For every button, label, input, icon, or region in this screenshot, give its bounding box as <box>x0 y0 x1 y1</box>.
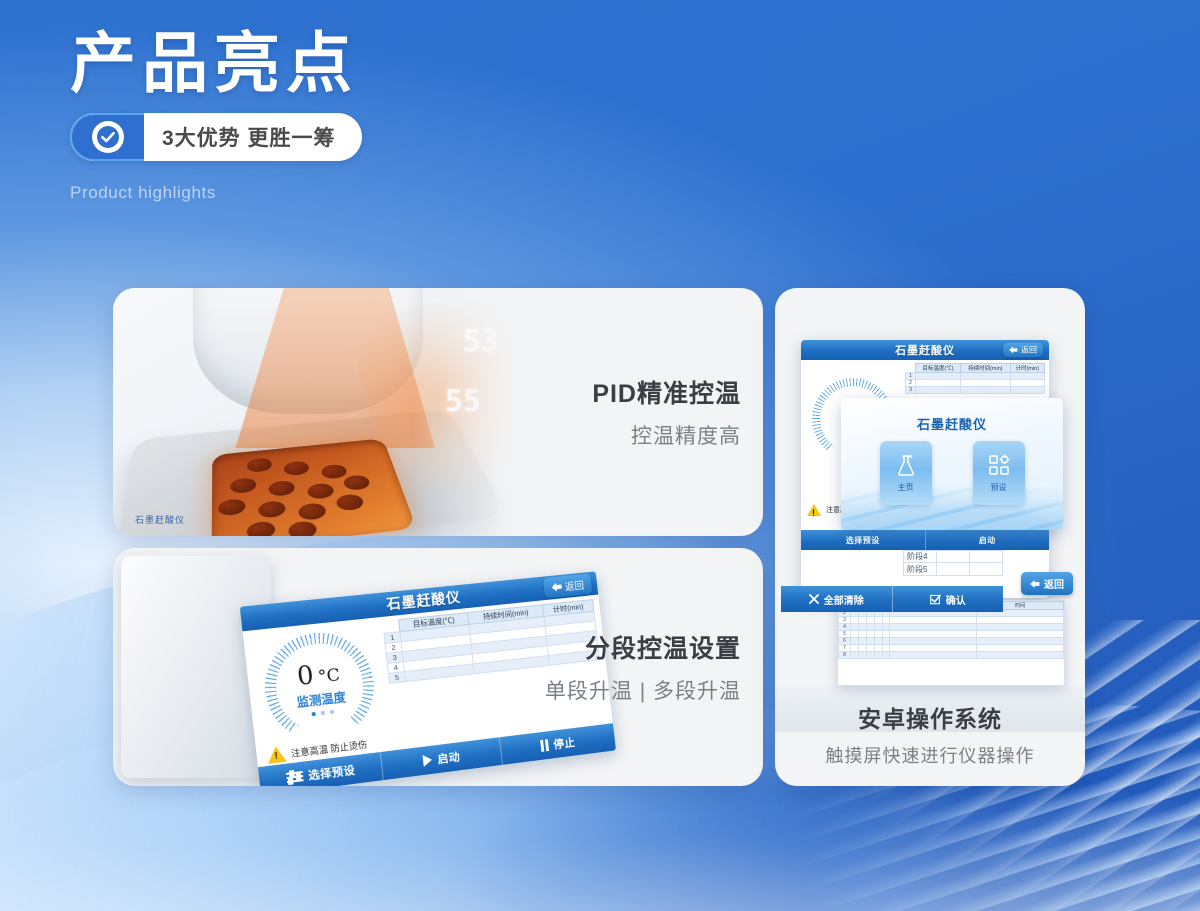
os-col-duration: 持续时间(min) <box>960 364 1010 373</box>
well <box>335 493 365 511</box>
cell[interactable] <box>858 617 866 624</box>
stage-row: 阶段5 <box>903 563 1003 576</box>
cell[interactable] <box>874 638 882 645</box>
stage-row-label: 阶段4 <box>904 551 936 562</box>
cell[interactable] <box>1010 373 1044 380</box>
cell[interactable] <box>851 645 859 652</box>
preset-button-label: 预设 <box>991 482 1007 493</box>
table-row: 8 <box>839 652 1064 659</box>
gauge-dot <box>311 711 316 716</box>
cell[interactable] <box>977 631 1064 638</box>
cell[interactable] <box>1010 380 1044 387</box>
cell[interactable] <box>890 624 977 631</box>
page-subtitle: Product highlights <box>70 183 670 203</box>
table-row: 2 <box>906 380 1045 387</box>
cell[interactable] <box>890 638 977 645</box>
sliders-icon <box>286 771 304 783</box>
card-android-os[interactable]: 石墨赶酸仪 返回 目标温度(℃) 持续时间(min) <box>775 288 1085 786</box>
cell[interactable] <box>874 652 882 659</box>
stop-label: 停止 <box>553 734 577 752</box>
cell[interactable] <box>874 645 882 652</box>
back-button-label: 返回 <box>564 577 585 593</box>
cell[interactable] <box>960 387 1010 394</box>
cell[interactable] <box>866 652 874 659</box>
confirm-button[interactable]: 确认 <box>893 586 1004 612</box>
preset-select-label: 选择预设 <box>307 761 356 783</box>
warning-triangle-icon <box>807 504 821 516</box>
stop-button[interactable]: 停止 <box>500 723 616 765</box>
card-android-title: 安卓操作系统 <box>775 700 1085 734</box>
well <box>258 500 287 519</box>
badge-label: 3大优势 更胜一筹 <box>144 122 362 152</box>
table-row: 6 <box>839 638 1064 645</box>
checkbox-icon <box>930 594 941 605</box>
card-segmented-temperature[interactable]: 石墨赶酸仪 返回 0 °C 监测温度 <box>113 548 763 786</box>
os-back-button[interactable]: 返回 <box>1003 343 1043 358</box>
table-row: 1 <box>906 373 1045 380</box>
row-index: 5 <box>388 672 405 684</box>
cell[interactable] <box>866 631 874 638</box>
page-header: 产品亮点 3大优势 更胜一筹 Product highlights <box>70 28 670 203</box>
card-pid-text: PID精准控温 控温精度高 <box>592 374 741 450</box>
cell[interactable] <box>960 373 1010 380</box>
row-index: 5 <box>839 631 851 638</box>
cell[interactable] <box>916 373 961 380</box>
os-program-table[interactable]: 目标温度(℃) 持续时间(min) 计时(min) 1 2 3 <box>905 363 1045 394</box>
cell[interactable] <box>874 624 882 631</box>
cell[interactable] <box>882 624 890 631</box>
os-footer-bar: 选择预设 启动 <box>801 530 1049 550</box>
home-button[interactable]: 主页 <box>880 441 932 505</box>
table-row: 7 <box>839 645 1064 652</box>
dialog-buttons: 主页 预设 <box>841 441 1063 505</box>
row-index: 8 <box>839 652 851 659</box>
os-back-label: 返回 <box>1021 345 1037 356</box>
gauge-dot <box>321 710 326 715</box>
home-button-label: 主页 <box>898 482 914 493</box>
flask-icon <box>896 454 916 476</box>
dialog-action-bar: 全部清除 确认 <box>781 586 1003 612</box>
row-index: 2 <box>906 380 916 387</box>
gauge-page-dots <box>311 709 334 716</box>
card-pid-subtitle: 控温精度高 <box>592 420 741 450</box>
gauge-readout: 0 °C 监测温度 <box>243 617 396 758</box>
cell[interactable] <box>890 617 977 624</box>
back-arrow-icon <box>551 582 562 592</box>
table-body: 1 2 3 <box>906 373 1045 394</box>
well <box>246 520 276 536</box>
card-segment-text: 分段控温设置 单段升温 | 多段升温 <box>545 629 741 705</box>
os-start-button[interactable]: 启动 <box>926 530 1050 550</box>
gauge-panel: 0 °C 监测温度 <box>243 617 396 758</box>
well <box>342 474 371 491</box>
highlight-badge: 3大优势 更胜一筹 <box>70 113 362 161</box>
cell[interactable] <box>882 645 890 652</box>
gauge-dot <box>330 709 335 714</box>
instrument-brand-label: 石墨赶酸仪 <box>135 513 185 526</box>
os-col-target-temp: 目标温度(℃) <box>916 364 961 373</box>
cell[interactable] <box>890 652 977 659</box>
cell[interactable] <box>977 617 1064 624</box>
cell[interactable] <box>866 638 874 645</box>
row-index: 1 <box>906 373 916 380</box>
table-row: 4 <box>839 624 1064 631</box>
back-arrow-icon <box>1030 580 1040 588</box>
check-circle-icon <box>92 121 124 153</box>
well <box>297 502 327 521</box>
cell[interactable] <box>916 380 961 387</box>
cell[interactable] <box>858 631 866 638</box>
clear-all-button[interactable]: 全部清除 <box>781 586 893 612</box>
cell[interactable] <box>858 624 866 631</box>
row-index: 6 <box>839 638 851 645</box>
well <box>287 520 318 536</box>
card-segment-subtitle: 单段升温 | 多段升温 <box>545 675 741 705</box>
card-pid-title: PID精准控温 <box>592 374 741 410</box>
cell[interactable] <box>977 638 1064 645</box>
table-row: 3 <box>906 387 1045 394</box>
table-corner <box>906 364 916 373</box>
card-android-subtitle: 触摸屏快速进行仪器操作 <box>775 742 1085 768</box>
well <box>320 464 348 480</box>
cell[interactable] <box>866 617 874 624</box>
cell[interactable] <box>874 631 882 638</box>
row-index: 3 <box>839 617 851 624</box>
cell[interactable] <box>890 645 977 652</box>
close-x-icon <box>809 594 819 604</box>
product-photo-heating-block: 53 55 石墨赶酸仪 <box>113 288 533 536</box>
well <box>246 457 272 473</box>
table-row: 3 <box>839 617 1064 624</box>
gauge-label: 监测温度 <box>296 688 347 711</box>
gauge-unit: °C <box>317 665 341 688</box>
cell[interactable] <box>916 387 961 394</box>
back-button[interactable]: 返回 <box>543 573 593 598</box>
row-index: 7 <box>839 645 851 652</box>
photo-fade-mask <box>413 288 533 536</box>
start-label: 启动 <box>437 748 461 767</box>
stage-rows-list: 阶段4 阶段5 <box>903 550 1003 576</box>
card-android-text: 安卓操作系统 触摸屏快速进行仪器操作 <box>775 700 1085 768</box>
cell[interactable] <box>977 645 1064 652</box>
pause-icon <box>540 739 549 752</box>
well-plate <box>212 438 417 536</box>
warning-triangle-icon <box>266 745 286 764</box>
background-bottom-band <box>0 791 1200 911</box>
confirm-label: 确认 <box>946 592 966 607</box>
cell[interactable] <box>851 617 859 624</box>
grid-settings-icon <box>988 454 1010 476</box>
cell[interactable] <box>858 638 866 645</box>
stage-row-label: 阶段5 <box>904 564 936 575</box>
home-dialog[interactable]: 石墨赶酸仪 主页 预设 <box>841 398 1063 530</box>
os-preset-label: 选择预设 <box>846 535 880 546</box>
cell[interactable] <box>851 624 859 631</box>
cell[interactable] <box>960 380 1010 387</box>
play-icon <box>423 754 433 767</box>
cell[interactable] <box>858 652 866 659</box>
cell[interactable] <box>977 652 1064 659</box>
cell[interactable] <box>874 617 882 624</box>
cell[interactable] <box>882 617 890 624</box>
cell[interactable] <box>882 631 890 638</box>
clear-all-label: 全部清除 <box>824 592 864 607</box>
grid-body: 2 3 4 5 6 7 8 <box>839 610 1064 659</box>
well <box>268 480 296 497</box>
os-app-title: 石墨赶酸仪 <box>895 342 955 358</box>
badge-icon-area <box>70 113 144 161</box>
well <box>283 460 310 476</box>
os-preset-select-button[interactable]: 选择预设 <box>801 530 926 550</box>
dialog-title: 石墨赶酸仪 <box>841 414 1063 433</box>
os-start-label: 启动 <box>979 535 996 546</box>
cell[interactable] <box>866 624 874 631</box>
cell[interactable] <box>866 645 874 652</box>
card-segment-title: 分段控温设置 <box>545 629 741 665</box>
cell[interactable] <box>851 638 859 645</box>
row-index: 3 <box>906 387 916 394</box>
stage-row: 阶段4 <box>903 550 1003 563</box>
cell[interactable] <box>977 624 1064 631</box>
page-title: 产品亮点 <box>70 28 670 99</box>
well <box>218 498 246 516</box>
gauge-value: 0 <box>295 659 315 690</box>
cell[interactable] <box>851 631 859 638</box>
back-arrow-icon <box>1009 347 1018 354</box>
cell[interactable] <box>882 638 890 645</box>
os-secondary-back-label: 返回 <box>1044 576 1064 591</box>
cell[interactable] <box>890 631 977 638</box>
cell[interactable] <box>851 652 859 659</box>
cell[interactable] <box>858 645 866 652</box>
os-titlebar: 石墨赶酸仪 返回 <box>801 340 1049 360</box>
os-col-timer: 计时(min) <box>1010 364 1044 373</box>
cell[interactable] <box>1010 387 1044 394</box>
card-pid-temperature-control[interactable]: 53 55 石墨赶酸仪 PID精准控温 控温精度高 <box>113 288 763 536</box>
preset-grid-table[interactable]: 温度 时间 2 3 4 5 6 7 8 <box>837 600 1065 686</box>
well <box>306 483 335 500</box>
cell[interactable] <box>882 652 890 659</box>
start-button[interactable]: 启动 <box>381 737 503 780</box>
row-index: 4 <box>839 624 851 631</box>
table-header-row: 目标温度(℃) 持续时间(min) 计时(min) <box>906 364 1045 373</box>
well <box>230 477 257 494</box>
os-secondary-back-button[interactable]: 返回 <box>1021 572 1073 595</box>
table-row: 5 <box>839 631 1064 638</box>
preset-button[interactable]: 预设 <box>973 441 1025 505</box>
